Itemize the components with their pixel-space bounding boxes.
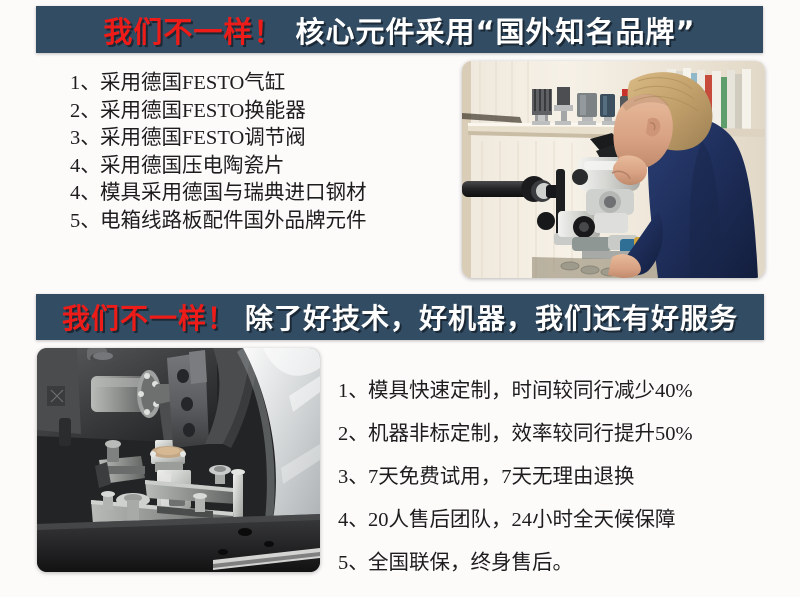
list-item-number: 4、 [70,153,100,181]
list-item-number: 3、 [70,125,100,153]
list-item-number: 2、 [338,413,368,456]
list-item-label: 模具快速定制，时间较同行减少40% [368,370,693,413]
list-item-number: 3、 [338,456,368,499]
list-item-label: 机器非标定制，效率较同行提升50% [368,413,693,456]
list-item-number: 1、 [70,70,100,98]
list-item-label: 20人售后团队，24小时全天候保障 [368,499,676,542]
list-item: 4、 模具采用德国与瑞典进口钢材 [70,180,367,208]
list-item: 3、 采用德国FESTO调节阀 [70,125,367,153]
list-item-number: 4、 [338,499,368,542]
list-item: 5、 电箱线路板配件国外品牌元件 [70,208,367,236]
list-item: 2、 采用德国FESTO换能器 [70,98,367,126]
list-item: 3、 7天免费试用，7天无理由退换 [338,456,693,499]
list-item-label: 采用德国FESTO调节阀 [100,125,306,153]
list-item: 2、 机器非标定制，效率较同行提升50% [338,413,693,456]
list-item: 1、 模具快速定制，时间较同行减少40% [338,370,693,413]
list-item: 4、 20人售后团队，24小时全天候保障 [338,499,693,542]
list-item-number: 5、 [338,542,368,585]
section-two-service-list: 1、 模具快速定制，时间较同行减少40% 2、 机器非标定制，效率较同行提升50… [338,370,693,585]
list-item-number: 5、 [70,208,100,236]
list-item-label: 采用德国压电陶瓷片 [100,153,285,181]
section-two-header-highlight: 我们不一样！ [62,297,236,337]
promo-page: 我们不一样！ 核心元件采用“国外知名品牌” 1、 采用德国FESTO气缸 2、 … [0,0,800,597]
list-item: 5、 全国联保，终身售后。 [338,542,693,585]
list-item-label: 采用德国FESTO气缸 [100,70,285,98]
list-item-label: 采用德国FESTO换能器 [100,98,306,126]
list-item-label: 7天免费试用，7天无理由退换 [368,456,635,499]
list-item-number: 4、 [70,180,100,208]
list-item: 4、 采用德国压电陶瓷片 [70,153,367,181]
section-one-header-bar: 我们不一样！ 核心元件采用“国外知名品牌” [36,6,763,53]
section-one-feature-list: 1、 采用德国FESTO气缸 2、 采用德国FESTO换能器 3、 采用德国FE… [70,70,367,235]
section-two-header-bar: 我们不一样！ 除了好技术，好机器，我们还有好服务 [36,294,764,340]
section-one-header-highlight: 我们不一样！ [103,9,283,51]
section-one-header-rest: 核心元件采用“国外知名品牌” [295,9,695,51]
machine-tooling-photo [37,348,320,572]
section-two-header-rest: 除了好技术，好机器，我们还有好服务 [245,297,738,337]
list-item-label: 全国联保，终身售后。 [368,542,573,585]
list-item-label: 模具采用德国与瑞典进口钢材 [100,180,367,208]
list-item-label: 电箱线路板配件国外品牌元件 [100,208,367,236]
list-item-number: 1、 [338,370,368,413]
list-item-number: 2、 [70,98,100,126]
microscope-inspection-photo [462,61,765,278]
list-item: 1、 采用德国FESTO气缸 [70,70,367,98]
